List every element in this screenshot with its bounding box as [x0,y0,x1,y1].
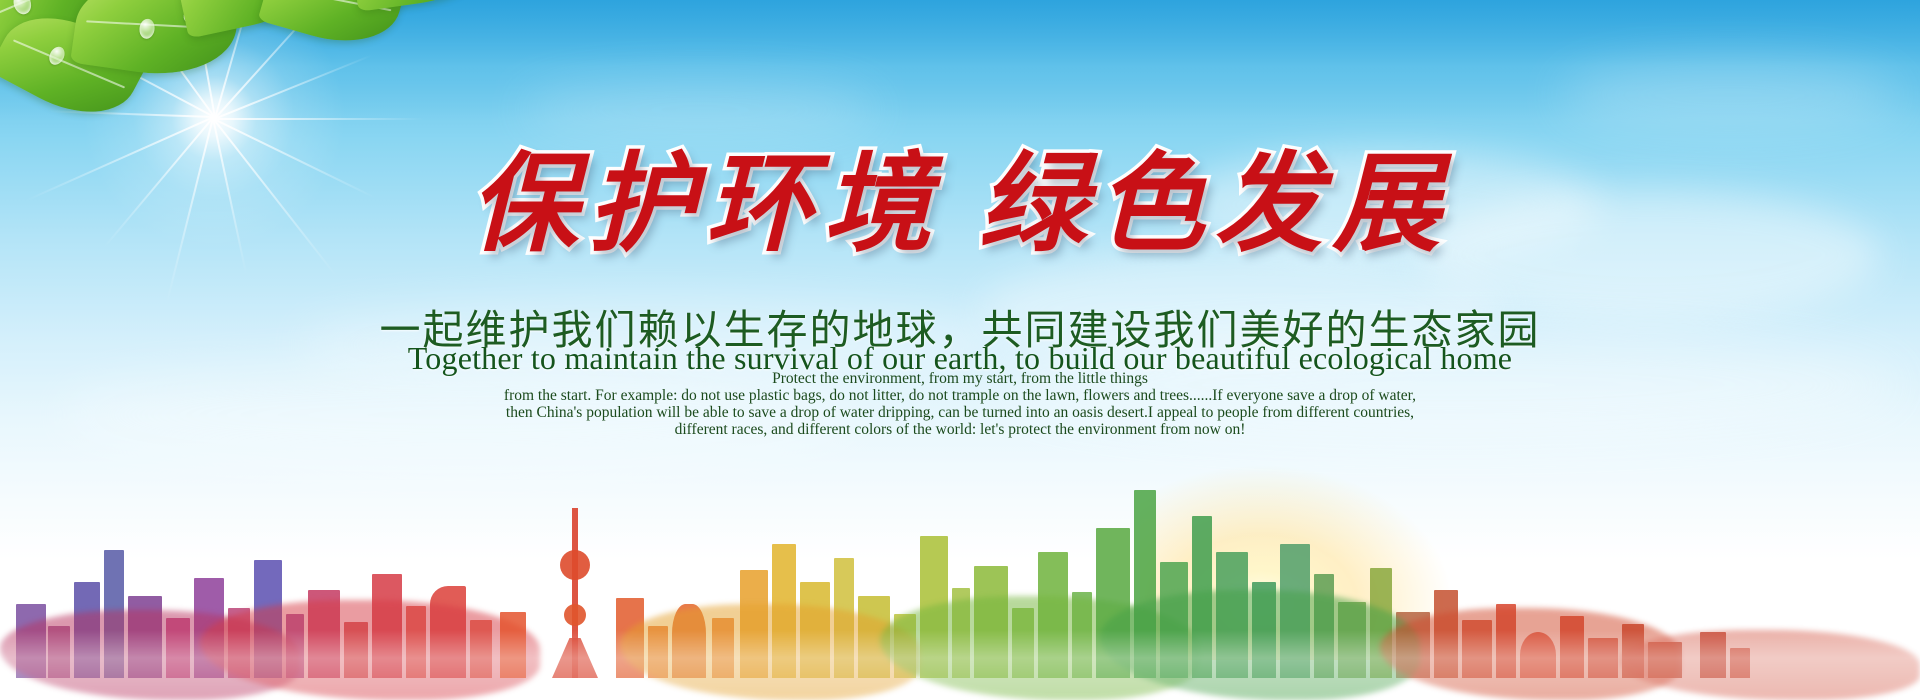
page-title: 保护环境 绿色发展 [469,150,1450,262]
environment-banner: 保护环境 绿色发展 一起维护我们赖以生存的地球，共同建设我们美好的生态家园 To… [0,0,1920,700]
skyline-ground-haze [0,630,1920,700]
city-skyline [0,400,1920,700]
green-leaves-decoration [0,0,740,160]
banner-title-wrap: 保护环境 绿色发展 [0,150,1920,262]
paragraph-line: Protect the environment, from my start, … [0,370,1920,387]
